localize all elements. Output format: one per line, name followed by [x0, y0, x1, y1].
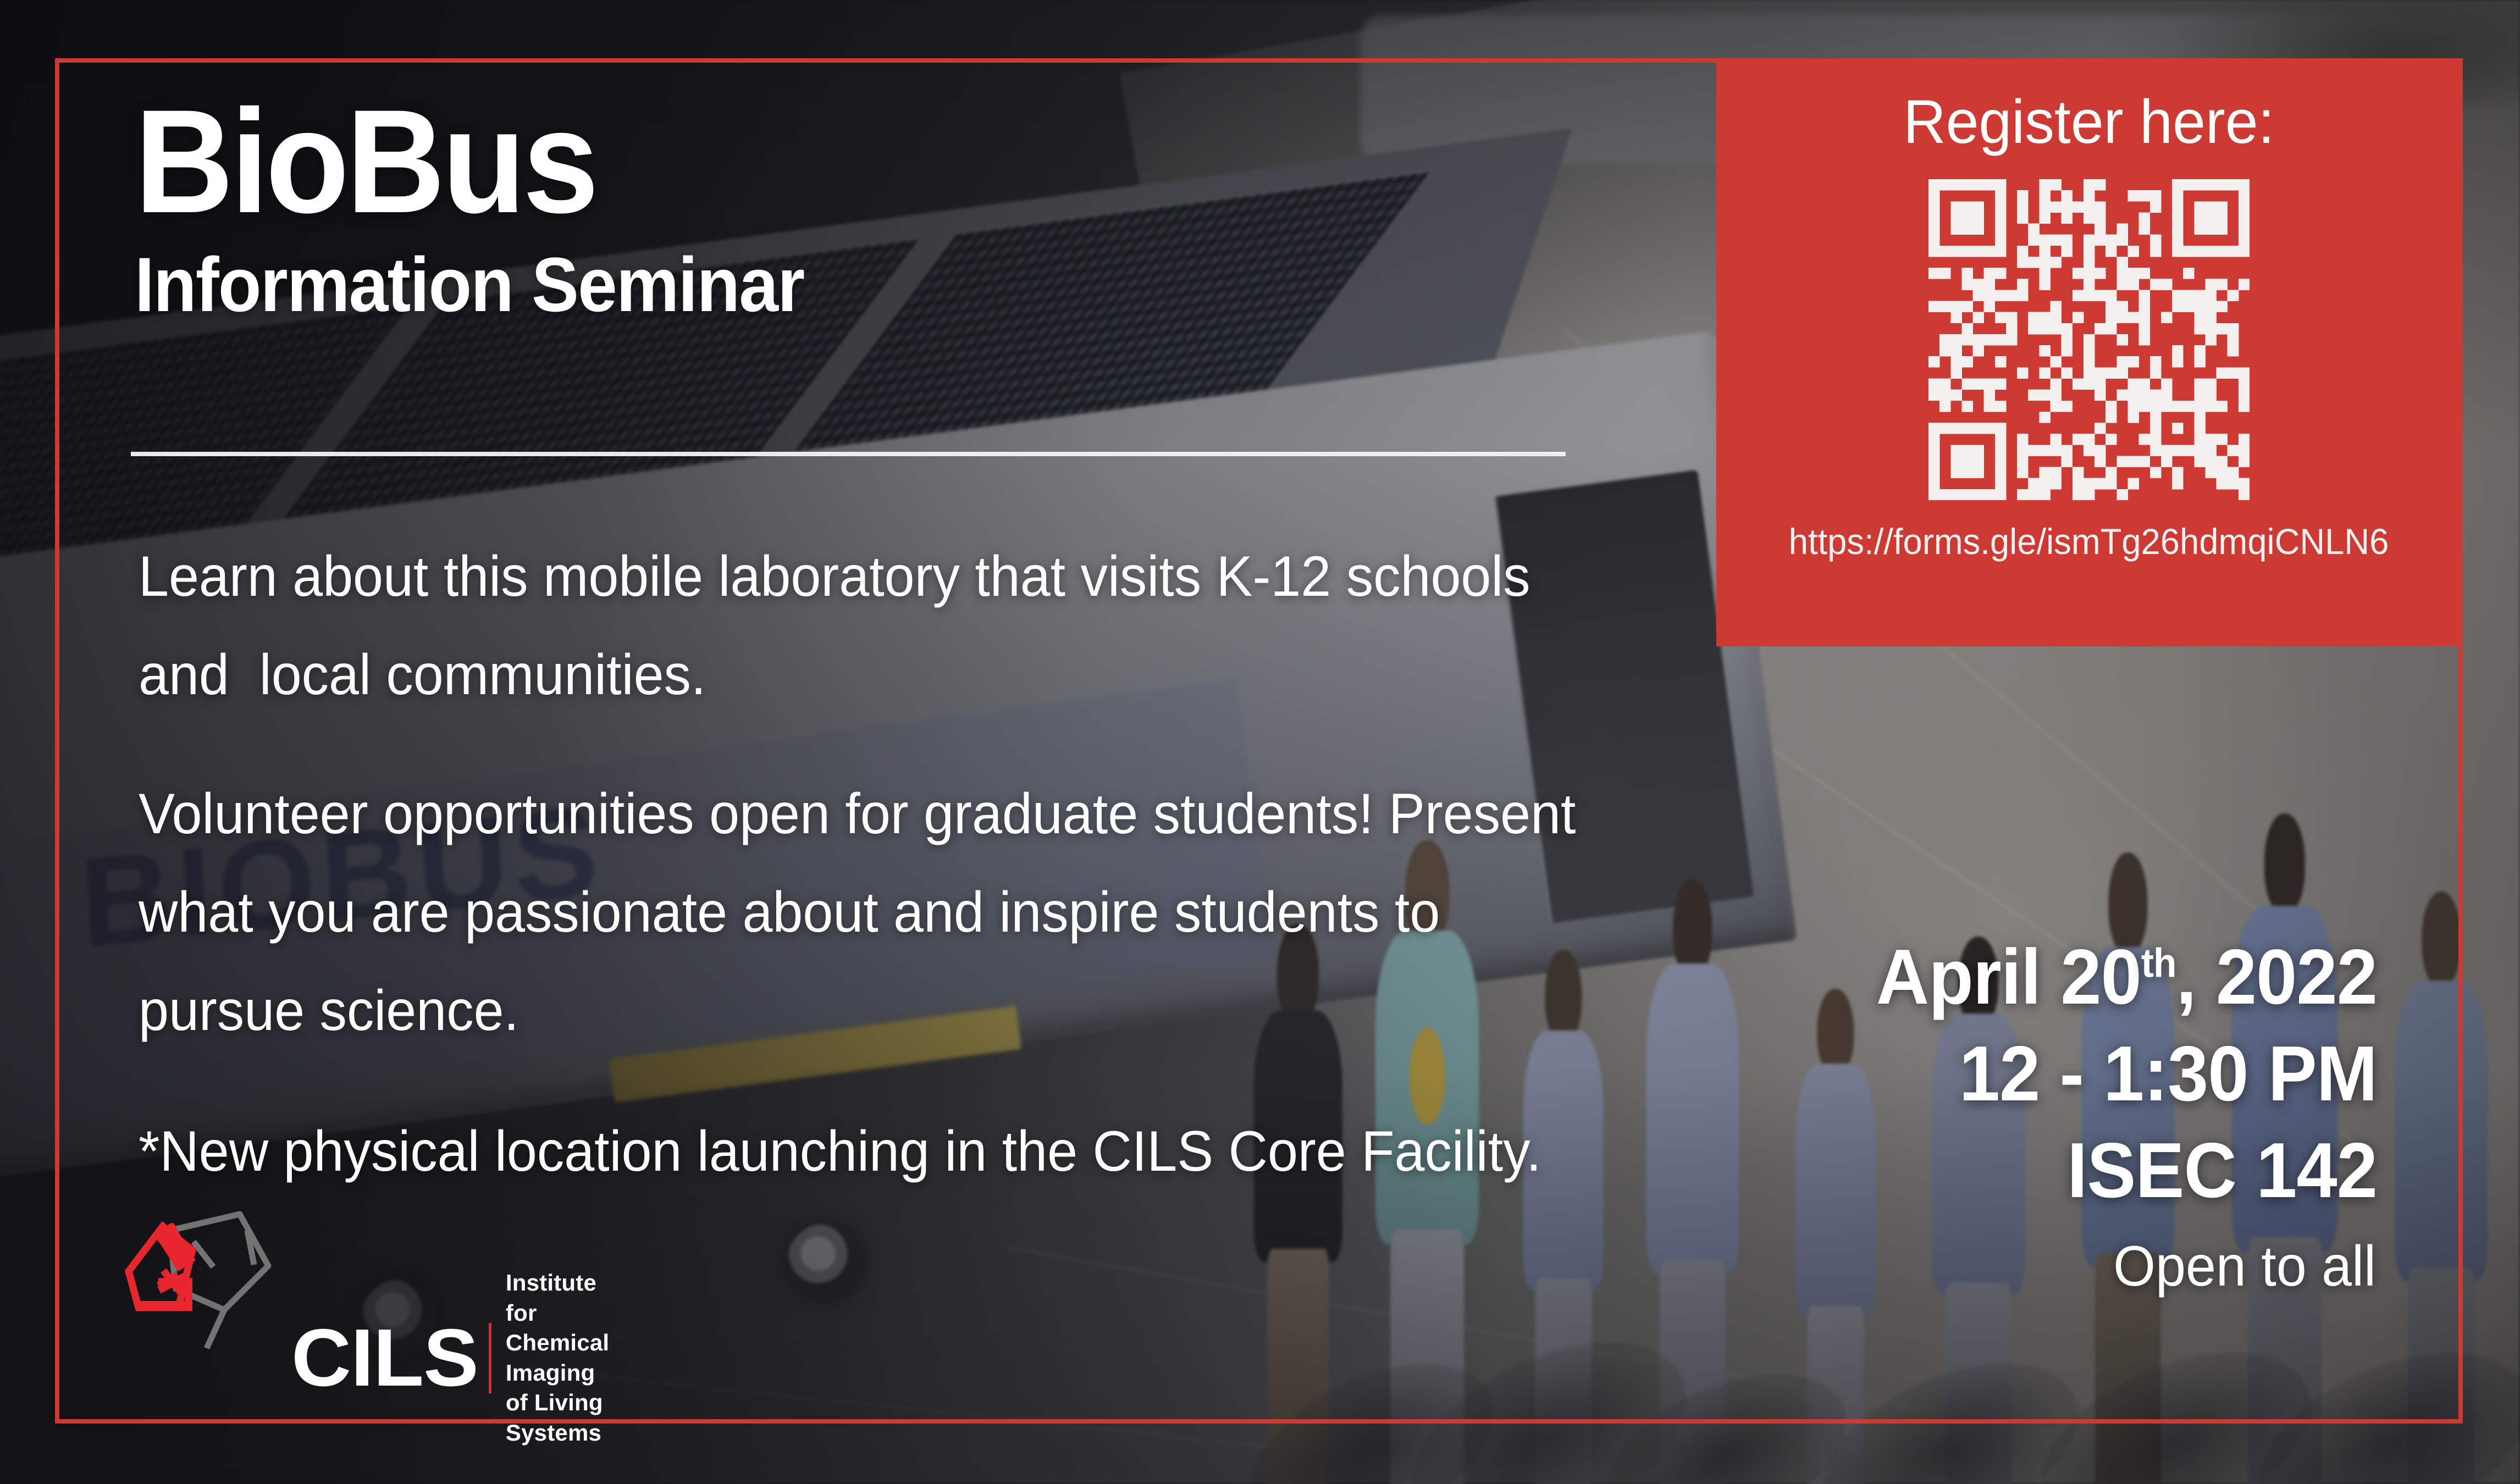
- logo-divider: [489, 1323, 491, 1393]
- body-copy: Learn about this mobile laboratory that …: [139, 528, 1656, 1201]
- title-block: BioBus Information Seminar: [135, 91, 1619, 328]
- title-divider: [131, 452, 1566, 456]
- page-title: BioBus: [135, 91, 1515, 232]
- event-audience: Open to all: [2113, 1238, 2376, 1295]
- body-paragraph-2: Volunteer opportunities open for graduat…: [139, 765, 1580, 1060]
- body-footnote: *New physical location launching in the …: [139, 1103, 1580, 1201]
- qr-code-icon[interactable]: [1928, 179, 2250, 500]
- body-paragraph-1: Learn about this mobile laboratory that …: [139, 528, 1580, 724]
- cils-tagline-line-2: Chemical Imaging: [506, 1328, 612, 1388]
- event-details: April 20th, 2022 12 - 1:30 PM ISEC 142: [1443, 929, 2377, 1219]
- cils-wordmark: CILS: [291, 1322, 478, 1394]
- page-subtitle: Information Seminar: [135, 242, 1500, 328]
- cils-tagline: Institute for Chemical Imaging of Living…: [506, 1268, 612, 1448]
- flyer-canvas: BIOBUS: [0, 0, 2520, 1484]
- event-date-ordinal: th: [2141, 940, 2176, 986]
- cils-tagline-line-3: of Living Systems: [506, 1388, 612, 1448]
- event-location: ISEC 142: [1499, 1122, 2377, 1219]
- register-url[interactable]: https://forms.gle/ismTg26hdmqiCNLN6: [1789, 523, 2389, 560]
- flyer-content: BioBus Information Seminar Learn about t…: [0, 0, 2520, 1484]
- register-heading: Register here:: [1903, 91, 2274, 153]
- cils-tagline-line-1: Institute for: [506, 1268, 612, 1328]
- event-date-suffix: , 2022: [2176, 933, 2377, 1021]
- cils-logo: CILS Institute for Chemical Imaging of L…: [110, 1206, 605, 1388]
- cils-logo-text: CILS Institute for Chemical Imaging of L…: [291, 1268, 611, 1448]
- event-date-prefix: April 20: [1876, 933, 2141, 1021]
- cils-molecule-microscope-icon: [110, 1206, 291, 1388]
- event-date: April 20th, 2022: [1499, 929, 2377, 1026]
- register-panel: Register here: https://forms.gle/ismTg26…: [1716, 59, 2462, 646]
- event-time: 12 - 1:30 PM: [1499, 1026, 2377, 1122]
